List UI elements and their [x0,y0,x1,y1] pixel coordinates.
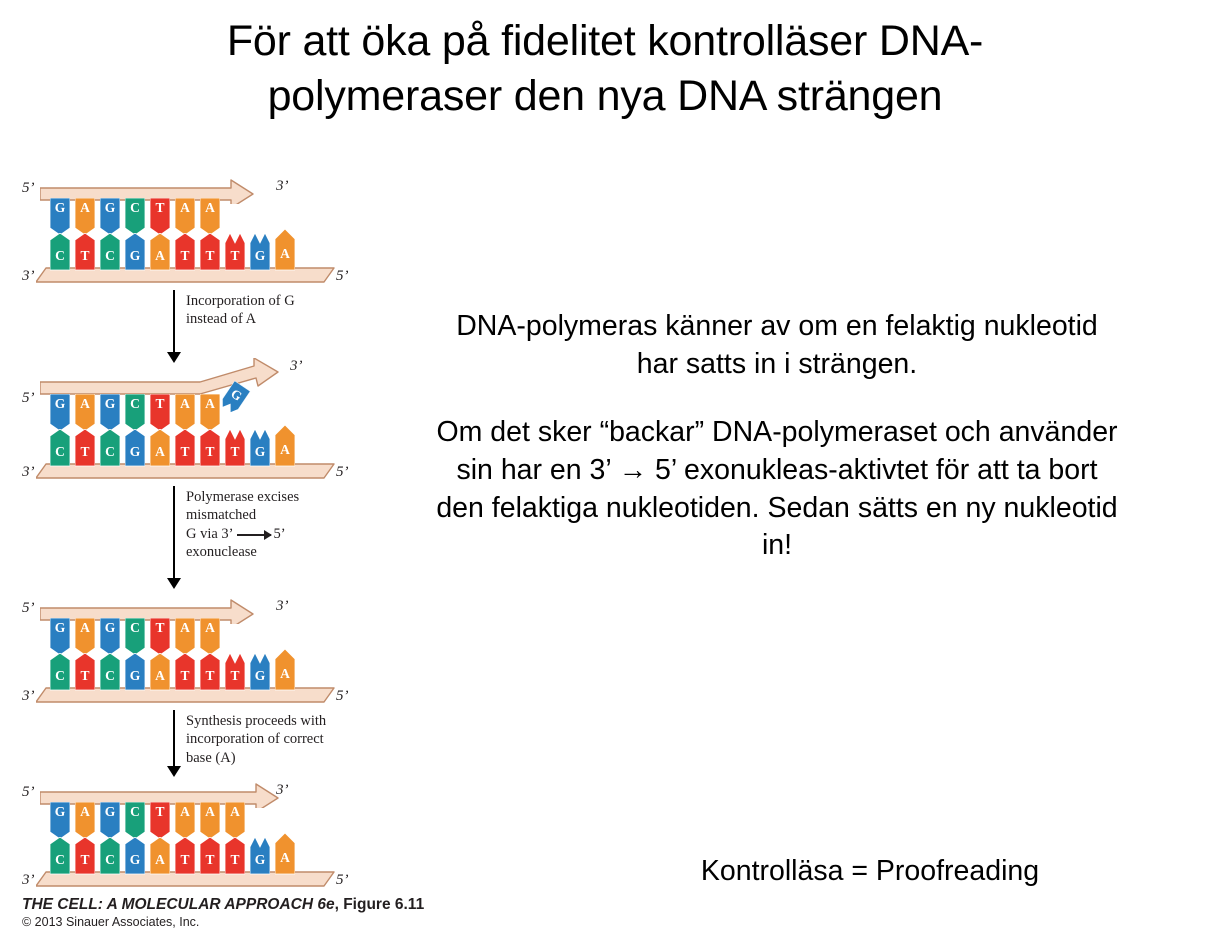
base-pair-column: GC [50,618,70,690]
base-pair-column: CG [125,198,145,270]
base-pair-column: AT [175,618,195,690]
nucleotide-g: G [100,802,120,839]
nucleotide-letter: T [200,852,220,868]
nucleotide-letter: T [75,852,95,868]
label-5-prime-bottom-right: 5’ [336,872,349,889]
transition-caption-text: 5’ [274,526,286,542]
nucleotide-letter: C [100,668,120,684]
transition-caption-line: instead of A [186,310,361,328]
base-pair-column: TA [150,394,170,466]
nucleotide-letter: T [200,668,220,684]
nucleotide-letter: A [200,620,220,636]
nucleotide-t: T [200,653,220,690]
nucleotide-letter: T [75,668,95,684]
nucleotide-c: C [100,837,120,874]
nucleotide-a: A [275,833,295,874]
nucleotide-letter: A [275,246,295,262]
nucleotide-a: A [275,425,295,466]
nucleotide-a: A [150,233,170,270]
base-pair-column: G [250,394,270,466]
nucleotide-letter: G [100,396,120,412]
transition-caption-text: G via 3’ [186,526,234,542]
base-pair-column: CG [125,802,145,874]
right-arrow-icon [237,534,271,536]
nucleotide-letter: T [175,852,195,868]
base-pair-column: GC [50,394,70,466]
nucleotide-letter: A [225,804,245,820]
label-5-prime-top-left: 5’ [22,600,35,617]
transition-caption-line: G via 3’5’ [186,525,361,543]
nucleotide-g: G [250,837,270,874]
transition-caption-line: base (A) [186,749,361,767]
attribution-figure-number: , Figure 6.11 [335,896,425,913]
nucleotide-c: C [50,837,70,874]
base-pair-column: GC [100,394,120,466]
nucleotide-letter: A [175,620,195,636]
nucleotide-letter: A [75,620,95,636]
panel-2: GCATGCCGTAATATTGAG5’3’3’5’ [18,372,358,482]
nucleotide-g: G [100,394,120,431]
nucleotide-letter: C [125,200,145,216]
label-3-prime-bottom-left: 3’ [22,464,35,481]
nucleotide-letter: C [125,620,145,636]
nucleotide-t: T [225,233,245,270]
nucleotide-t: T [175,837,195,874]
base-pair-column: AT [200,618,220,690]
nucleotide-letter: A [75,396,95,412]
body-paragraph-2: Om det sker “backar” DNA-polymeraset och… [432,414,1122,566]
base-pair-column: T [225,618,245,690]
nucleotide-letter: T [225,248,245,264]
base-pair-column: AT [175,198,195,270]
base-pair-column: GC [100,618,120,690]
nucleotide-a: A [175,394,195,431]
nucleotide-t: T [200,233,220,270]
nucleotide-c: C [125,198,145,235]
nucleotide-g: G [50,394,70,431]
nucleotide-letter: T [200,248,220,264]
label-5-prime-top-left: 5’ [22,784,35,801]
nucleotide-t: T [150,802,170,839]
nucleotide-letter: C [50,668,70,684]
body-paragraph-1: DNA-polymeras känner av om en felaktig n… [432,308,1122,384]
transition-caption: Synthesis proceeds withincorporation of … [186,712,361,767]
transition-caption-line: exonuclease [186,543,361,561]
footer-note: Kontrolläsa = Proofreading [560,855,1180,888]
nucleotide-letter: G [100,620,120,636]
transition-arrow-head-icon [167,766,181,777]
nucleotide-letter: T [225,444,245,460]
nucleotide-letter: G [50,200,70,216]
label-5-prime-bottom-right: 5’ [336,464,349,481]
nucleotide-letter: A [75,200,95,216]
base-pair-column: AT [175,394,195,466]
nucleotide-letter: A [175,804,195,820]
nucleotide-t: T [150,394,170,431]
nucleotide-letter: C [100,248,120,264]
nucleotide-letter: G [125,668,145,684]
nucleotide-letter: C [125,396,145,412]
nucleotide-letter: T [175,668,195,684]
nucleotide-t: T [75,837,95,874]
nucleotide-letter: C [50,248,70,264]
nucleotide-g: G [125,429,145,466]
nucleotide-g: G [100,198,120,235]
nucleotide-letter: A [150,248,170,264]
attribution: THE CELL: A MOLECULAR APPROACH 6e, Figur… [22,896,492,929]
transition-caption-line: mismatched [186,506,361,524]
base-pair-column: CG [125,618,145,690]
nucleotide-letter: T [175,248,195,264]
nucleotide-letter: C [125,804,145,820]
nucleotide-letter: G [250,248,270,264]
base-pair-column: AT [75,198,95,270]
label-5-prime-bottom-right: 5’ [336,688,349,705]
attribution-book: THE CELL: A MOLECULAR APPROACH 6e, Figur… [22,896,492,914]
transition-caption-line: Synthesis proceeds with [186,712,361,730]
base-pair-column: GC [50,802,70,874]
panel-4: GCATGCCGTAATATATGA5’3’3’5’ [18,780,358,890]
nucleotide-letter: T [225,668,245,684]
base-pair-column: A [275,802,295,874]
nucleotide-letter: G [250,444,270,460]
nucleotide-letter: A [175,396,195,412]
transition-arrow-head-icon [167,352,181,363]
nucleotide-letter: A [75,804,95,820]
base-pair-column: AT [200,198,220,270]
nucleotide-letter: G [250,852,270,868]
nucleotide-t: T [75,653,95,690]
nucleotide-t: T [175,429,195,466]
nucleotide-c: C [100,653,120,690]
label-3-prime-top-right: 3’ [276,178,289,195]
nucleotide-letter: C [50,852,70,868]
panel-1: GCATGCCGTAATATTGA5’3’3’5’ [18,176,358,286]
nucleotide-a: A [175,802,195,839]
base-pair-column: AT [200,802,220,874]
nucleotide-letter: G [100,804,120,820]
nucleotide-g: G [125,233,145,270]
nucleotide-t: T [175,233,195,270]
nucleotide-letter: A [175,200,195,216]
base-pair-column: G [250,802,270,874]
base-pair-column: A [275,618,295,690]
nucleotide-c: C [50,233,70,270]
nucleotide-c: C [50,429,70,466]
nucleotide-a: A [75,802,95,839]
nucleotide-a: A [225,802,245,839]
nucleotide-letter: A [200,804,220,820]
transition-caption-line: Polymerase excises [186,488,361,506]
nucleotide-c: C [100,429,120,466]
nucleotide-letter: G [125,852,145,868]
nucleotide-letter: C [100,444,120,460]
nucleotide-c: C [125,394,145,431]
base-pair-column: A [275,198,295,270]
transition-2: Polymerase excisesmismatchedG via 3’5’ex… [18,486,358,592]
nucleotide-letter: T [150,804,170,820]
nucleotide-a: A [275,229,295,270]
attribution-copyright: © 2013 Sinauer Associates, Inc. [22,915,492,929]
nucleotide-letter: T [75,248,95,264]
base-pair-column: AT [175,802,195,874]
nucleotide-letter: T [225,852,245,868]
nucleotide-g: G [125,653,145,690]
dna-proofreading-figure: GCATGCCGTAATATTGA5’3’3’5’GCATGCCGTAATATT… [18,176,378,936]
nucleotide-a: A [75,618,95,655]
base-pair-column: CG [125,394,145,466]
label-3-prime-top-right: 3’ [276,782,289,799]
base-pair-column: GC [100,198,120,270]
nucleotide-c: C [50,653,70,690]
label-3-prime-bottom-left: 3’ [22,688,35,705]
nucleotide-letter: A [200,396,220,412]
transition-1: Incorporation of Ginstead of A [18,290,358,368]
nucleotide-c: C [100,233,120,270]
nucleotide-a: A [200,618,220,655]
nucleotide-letter: T [175,444,195,460]
nucleotide-letter: T [200,444,220,460]
nucleotide-t: T [150,618,170,655]
page-title-line-1: För att öka på fidelitet kontrolläser DN… [60,14,1150,69]
nucleotide-a: A [200,198,220,235]
nucleotide-letter: G [100,200,120,216]
base-pair-column: TA [150,198,170,270]
nucleotide-a: A [75,198,95,235]
label-5-prime-top-left: 5’ [22,180,35,197]
nucleotide-letter: G [125,248,145,264]
nucleotide-g: G [250,429,270,466]
base-pair-column: AT [225,802,245,874]
nucleotide-letter: A [200,200,220,216]
base-pair-column: AT [75,618,95,690]
nucleotide-letter: T [150,620,170,636]
nucleotide-g: G [250,233,270,270]
nucleotide-g: G [50,802,70,839]
attribution-book-title: THE CELL: A MOLECULAR APPROACH 6e [22,896,335,913]
nucleotide-letter: A [150,852,170,868]
label-3-prime-bottom-left: 3’ [22,872,35,889]
base-pair-column: GC [50,198,70,270]
base-pair-column: G [250,198,270,270]
nucleotide-c: C [125,802,145,839]
nucleotide-letter: C [100,852,120,868]
nucleotide-t: T [200,429,220,466]
nucleotide-t: T [150,198,170,235]
nucleotide-letter: G [50,804,70,820]
base-pair-column: T [225,198,245,270]
transition-arrow-line [173,486,175,578]
nucleotide-a: A [175,198,195,235]
transition-arrow-line [173,290,175,352]
page-title: För att öka på fidelitet kontrolläser DN… [60,14,1150,124]
nucleotide-letter: T [150,396,170,412]
nucleotide-c: C [125,618,145,655]
nucleotide-letter: G [50,396,70,412]
nucleotide-t: T [175,653,195,690]
base-pair-column: A [275,394,295,466]
base-pair-column: TA [150,802,170,874]
nucleotide-letter: A [150,668,170,684]
transition-arrow-line [173,710,175,766]
nucleotide-letter: G [50,620,70,636]
nucleotide-a: A [200,394,220,431]
nucleotide-g: G [50,198,70,235]
nucleotide-letter: C [50,444,70,460]
base-pair-column: AT [75,394,95,466]
label-3-prime-top-right: 3’ [276,598,289,615]
transition-caption: Polymerase excisesmismatchedG via 3’5’ex… [186,488,361,561]
nucleotide-t: T [75,429,95,466]
base-pair-column: G [250,618,270,690]
nucleotide-letter: A [275,442,295,458]
nucleotide-letter: A [150,444,170,460]
nucleotide-g: G [125,837,145,874]
nucleotide-letter: T [150,200,170,216]
base-pair-column: GC [100,802,120,874]
body-text-block: DNA-polymeras känner av om en felaktig n… [432,308,1122,565]
nucleotide-a: A [75,394,95,431]
nucleotide-a: A [150,837,170,874]
transition-arrow-head-icon [167,578,181,589]
page-title-line-2: polymeraser den nya DNA strängen [60,69,1150,124]
transition-caption: Incorporation of Ginstead of A [186,292,361,329]
transition-3: Synthesis proceeds withincorporation of … [18,710,358,776]
nucleotide-t: T [225,653,245,690]
base-pair-column: TA [150,618,170,690]
nucleotide-t: T [75,233,95,270]
nucleotide-letter: G [250,668,270,684]
panel-3: GCATGCCGTAATATTGA5’3’3’5’ [18,596,358,706]
nucleotide-a: A [200,802,220,839]
nucleotide-a: A [275,649,295,690]
nucleotide-letter: G [125,444,145,460]
nucleotide-g: G [50,618,70,655]
transition-caption-line: Incorporation of G [186,292,361,310]
nucleotide-a: A [150,653,170,690]
nucleotide-t: T [200,837,220,874]
nucleotide-letter: A [275,850,295,866]
label-5-prime-bottom-right: 5’ [336,268,349,285]
base-pair-column: AT [75,802,95,874]
nucleotide-t: T [225,837,245,874]
label-5-prime-top-left: 5’ [22,390,35,407]
nucleotide-g: G [100,618,120,655]
nucleotide-letter: A [275,666,295,682]
label-3-prime-bottom-left: 3’ [22,268,35,285]
nucleotide-t: T [225,429,245,466]
nucleotide-letter: T [75,444,95,460]
nucleotide-g: G [250,653,270,690]
nucleotide-a: A [150,429,170,466]
nucleotide-a: A [175,618,195,655]
transition-caption-line: incorporation of correct [186,730,361,748]
